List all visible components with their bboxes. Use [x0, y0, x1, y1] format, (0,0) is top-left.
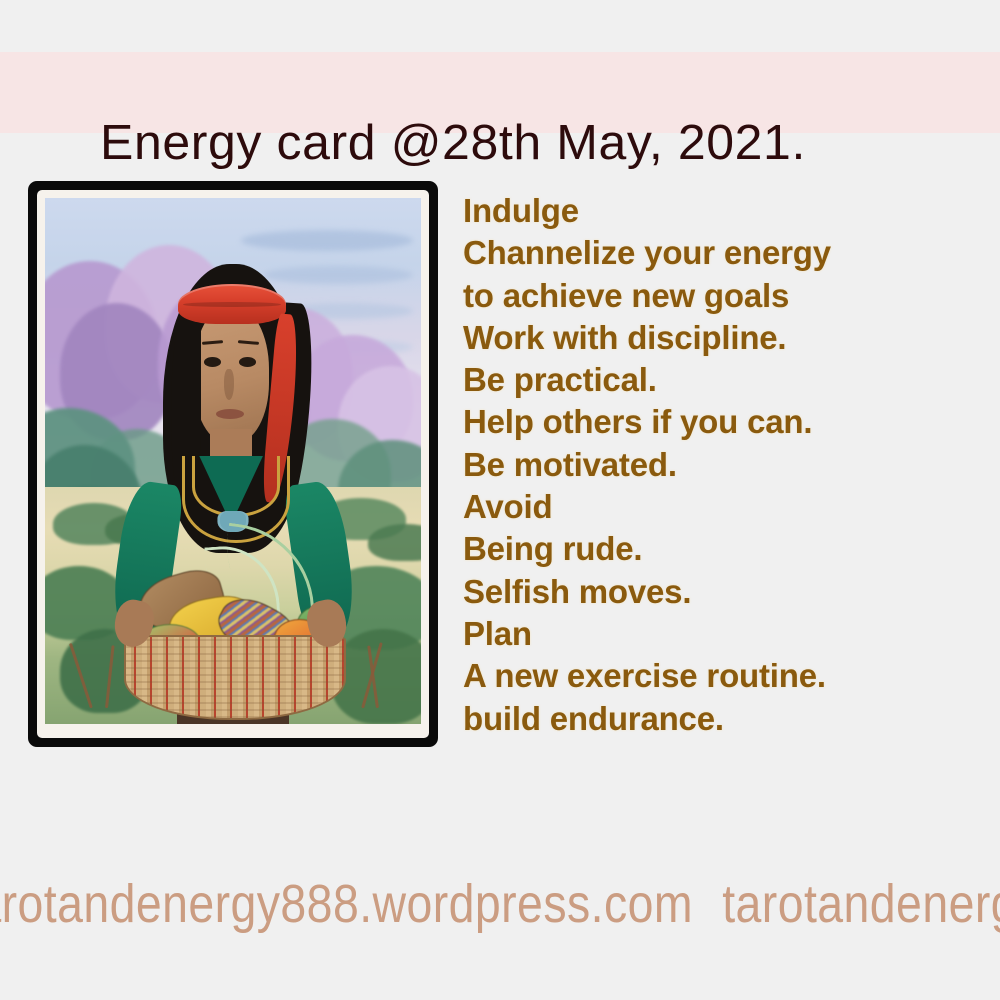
reading-line: Being rude. [463, 528, 983, 570]
woman-figure [45, 198, 421, 724]
watermark-strip: tarotandenergy888.wordpress.comtarotande… [0, 873, 1000, 935]
tarot-card-mat [37, 190, 429, 738]
nose [224, 369, 234, 401]
reading-line: Selfish moves. [463, 571, 983, 613]
reading-line: Be practical. [463, 359, 983, 401]
watermark-instance: tarotandenergy888.wordpress.com [722, 874, 1000, 934]
reading-line: Be motivated. [463, 444, 983, 486]
reading-line: to achieve new goals [463, 275, 983, 317]
reading-line: Plan [463, 613, 983, 655]
header-banner: Energy card @28th May, 2021. [0, 52, 1000, 133]
reading-line: Work with discipline. [463, 317, 983, 359]
watermark-instance: tarotandenergy888.wordpress.com [0, 874, 693, 934]
reading-line: build endurance. [463, 698, 983, 740]
woven-basket [124, 635, 346, 721]
reading-line: Channelize your energy [463, 232, 983, 274]
reading-line: Help others if you can. [463, 401, 983, 443]
tarot-card-frame [28, 181, 438, 747]
tarot-card-illustration [45, 198, 421, 724]
reading-line: Avoid [463, 486, 983, 528]
poster-canvas: Energy card @28th May, 2021. [0, 0, 1000, 1000]
eye [204, 357, 221, 367]
watermark-text: tarotandenergy888.wordpress.comtarotande… [0, 873, 1000, 935]
eye [239, 357, 256, 367]
reading-line: Indulge [463, 190, 983, 232]
red-headband [178, 284, 285, 324]
reading-line: A new exercise routine. [463, 655, 983, 697]
page-title: Energy card @28th May, 2021. [100, 115, 806, 171]
reading-text-block: Indulge Channelize your energy to achiev… [463, 190, 983, 740]
